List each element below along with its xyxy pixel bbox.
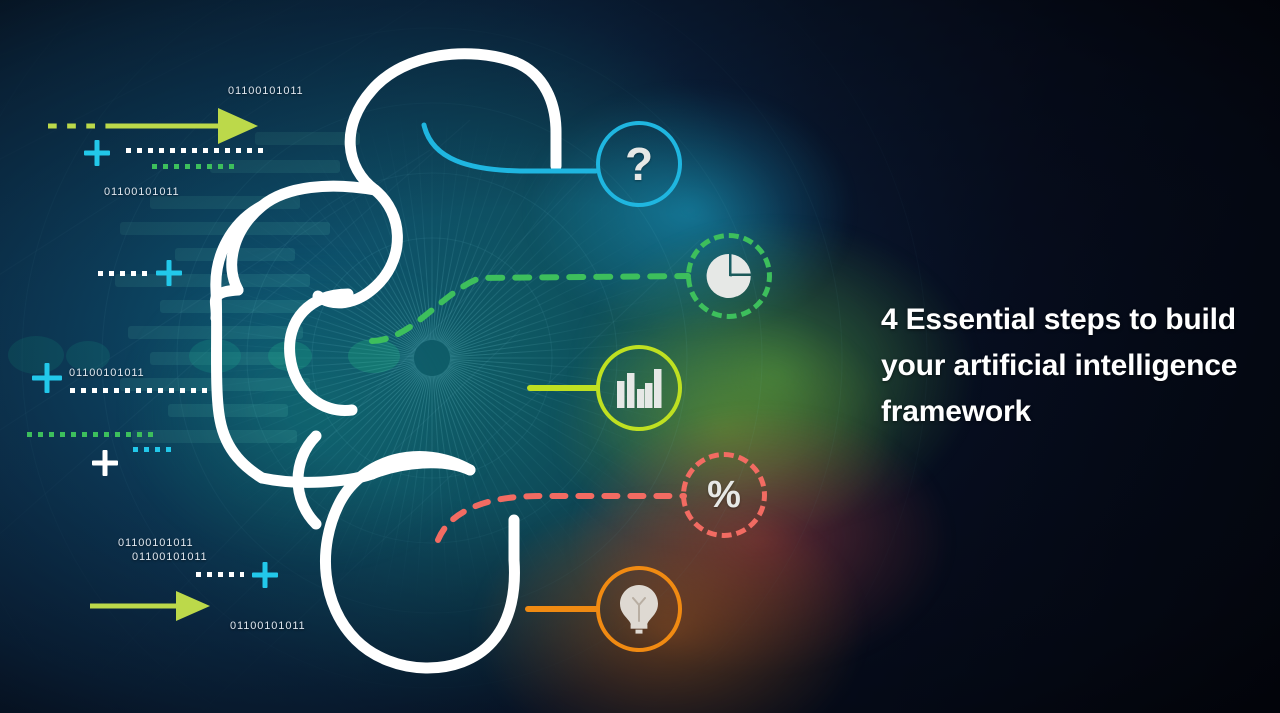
arrow-right-bottom-icon: [88, 588, 212, 624]
headline-line-3: framework: [881, 389, 1259, 435]
dotted-row-white-3: [70, 388, 226, 394]
node-pie-chart[interactable]: [686, 233, 772, 319]
binary-text-lower-b: 01100101011: [132, 551, 208, 563]
lightbulb-icon: [616, 583, 662, 635]
arrow-right-top-icon: [46, 104, 260, 150]
node-bar-chart[interactable]: [596, 345, 682, 431]
dotted-row-white-2: [98, 271, 150, 277]
connector-pie: [372, 276, 688, 341]
plus-icon-1: [84, 140, 110, 166]
headline-line-1: 4 Essential steps to build: [881, 297, 1259, 343]
plus-icon-5: [252, 562, 278, 588]
bar-chart-icon: [616, 367, 662, 409]
plus-icon-2: [156, 260, 182, 286]
dotted-row-white-4: [196, 572, 244, 578]
dotted-row-green-2: [27, 432, 161, 438]
binary-text-lower-a: 01100101011: [118, 537, 194, 549]
binary-text-top-right: 01100101011: [228, 85, 304, 97]
binary-text-bottom: 01100101011: [230, 620, 306, 632]
plus-icon-3: [32, 363, 62, 393]
node-question[interactable]: ?: [596, 121, 682, 207]
headline-line-2: your artificial intelligence: [881, 343, 1259, 389]
connector-question: [424, 125, 596, 171]
dotted-row-white-1: [126, 148, 270, 154]
dotted-row-green-1: [152, 164, 244, 170]
binary-text-mid-left: 01100101011: [69, 367, 145, 379]
node-percent[interactable]: %: [681, 452, 767, 538]
infographic-canvas: ? % 4 Essential steps to build your: [0, 0, 1280, 713]
pie-chart-icon: [704, 251, 754, 301]
plus-icon-4: [92, 450, 118, 476]
page-title: 4 Essential steps to build your artifici…: [881, 297, 1259, 436]
node-lightbulb[interactable]: [596, 566, 682, 652]
binary-text-top-left: 01100101011: [104, 186, 180, 198]
dotted-row-cyan-1: [133, 447, 181, 453]
percent-icon: %: [707, 476, 741, 514]
connector-percent: [438, 496, 684, 540]
question-mark-icon: ?: [625, 141, 653, 187]
